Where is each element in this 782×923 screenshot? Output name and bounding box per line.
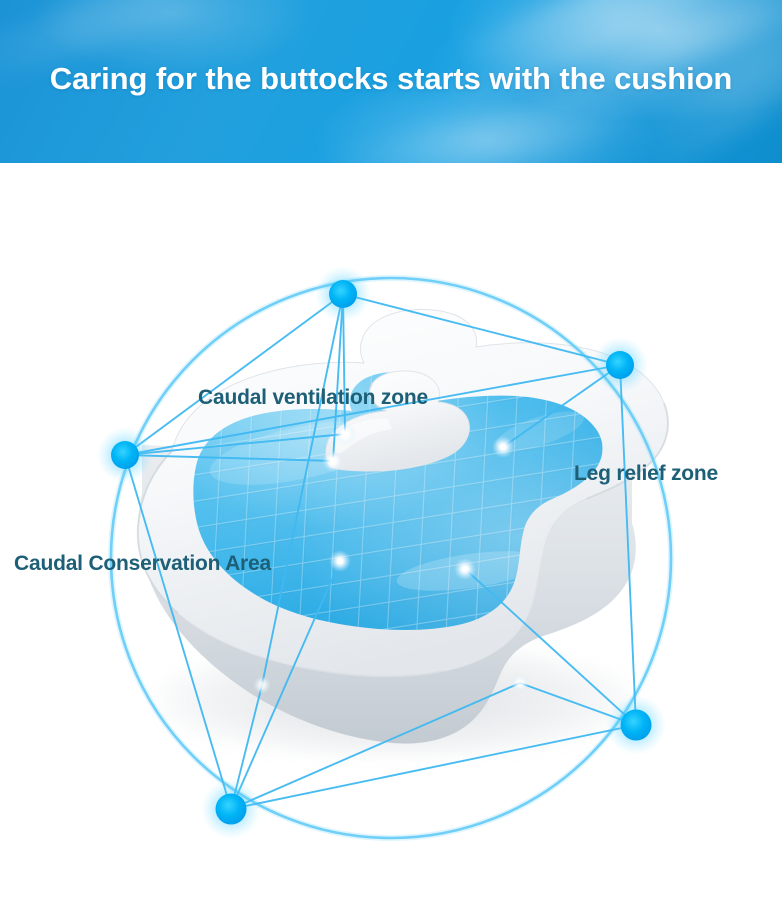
infographic-page: Caring for the buttocks starts with the … xyxy=(0,0,782,923)
callout-label-caudal-conservation-area: Caudal Conservation Area xyxy=(14,552,271,576)
callout-label-caudal-ventilation-zone: Caudal ventilation zone xyxy=(198,386,428,410)
diagram-stage: Caudal ventilation zone Leg relief zone … xyxy=(0,163,782,923)
banner-title: Caring for the buttocks starts with the … xyxy=(0,0,782,163)
callout-labels: Caudal ventilation zone Leg relief zone … xyxy=(0,163,782,923)
callout-label-leg-relief-zone-top: Leg relief zone xyxy=(574,462,718,486)
header-banner: Caring for the buttocks starts with the … xyxy=(0,0,782,163)
